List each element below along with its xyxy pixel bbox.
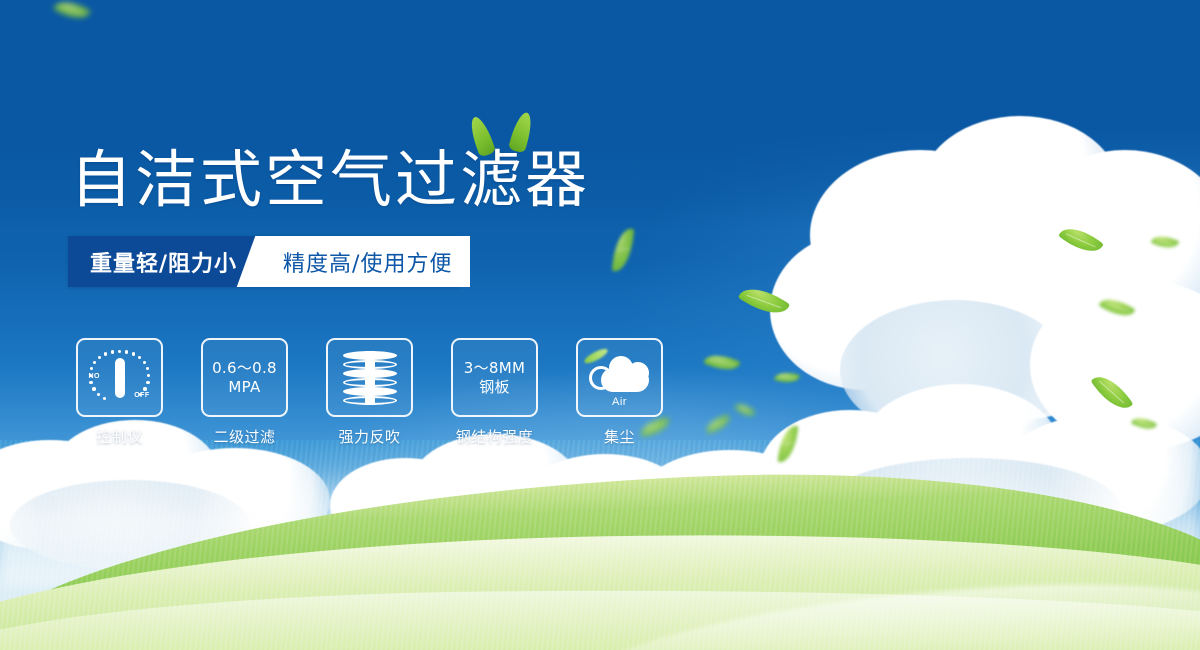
feature-icon-row: NO OFF 控制仪 0.6～0.8 MPA 二级过滤 [78,338,661,447]
feature-label: 控制仪 [96,426,143,447]
feature-label: 钢结构强度 [456,426,534,447]
air-cloud-icon: Air [587,350,653,406]
feature-item-two-stage-filter[interactable]: 0.6～0.8 MPA 二级过滤 [203,338,286,447]
feature-icon-box: 0.6～0.8 MPA [201,338,288,417]
dial-needle-icon [115,358,125,398]
page-title: 自洁式空气过滤器 [70,146,590,214]
subtitle-bar: 重量轻/阻力小 精度高/使用方便 [68,236,460,287]
grass-field [0,440,1200,650]
air-cloud-small-icon [589,366,613,390]
subtitle-left-segment: 重量轻/阻力小 [68,236,263,287]
feature-icon-box: 3～8MM 钢板 [451,338,538,417]
dial-on-label: NO [89,373,100,380]
feature-item-steel-strength[interactable]: 3～8MM 钢板 钢结构强度 [453,338,536,447]
feature-item-dust-collection[interactable]: Air 集尘 [578,338,661,447]
feature-item-controller[interactable]: NO OFF 控制仪 [78,338,161,447]
steel-thickness-text: 3～8MM [464,359,525,378]
control-dial-icon: NO OFF [89,349,151,407]
subtitle-right-segment: 精度高/使用方便 [263,236,470,287]
leaf-streak-icon [582,346,609,365]
grass-texture [0,440,1200,650]
feature-item-back-blow[interactable]: 强力反吹 [328,338,411,447]
product-hero-banner: 自洁式空气过滤器 重量轻/阻力小 精度高/使用方便 [0,0,1200,650]
filter-coil-icon [343,349,397,407]
feature-label: 集尘 [604,426,635,447]
air-label: Air [587,396,653,408]
subtitle-left-label: 重量轻/阻力小 [90,246,237,278]
pressure-range-text: 0.6～0.8 [212,359,277,378]
steel-plate-text: 钢板 [479,378,510,397]
feature-icon-box: Air [576,338,663,417]
feature-label: 强力反吹 [338,426,400,447]
subtitle-right-label: 精度高/使用方便 [283,246,452,278]
feature-icon-box [326,338,413,417]
feature-label: 二级过滤 [213,426,275,447]
pressure-unit-text: MPA [228,378,260,397]
dial-off-label: OFF [134,392,149,399]
feature-icon-box: NO OFF [76,338,163,417]
